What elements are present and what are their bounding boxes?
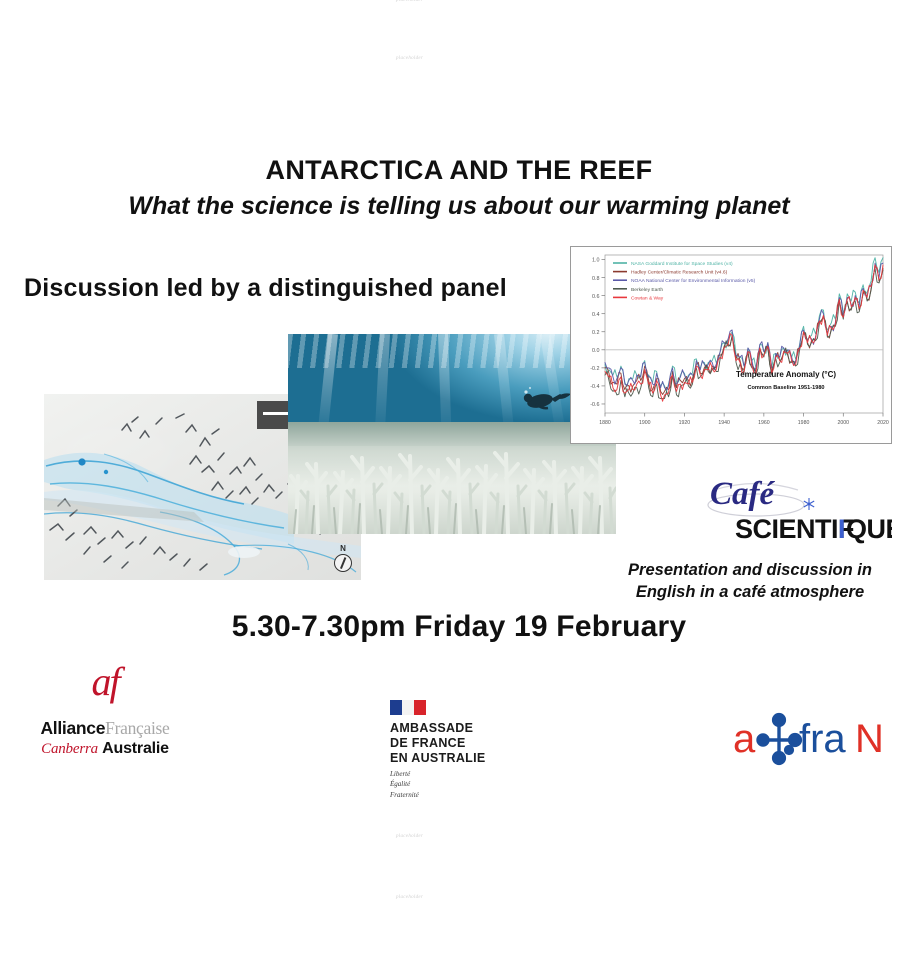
afran-molecule-icon	[758, 715, 800, 764]
svg-text:NASA Goddard Institute for Spa: NASA Goddard Institute for Space Studies…	[631, 261, 733, 267]
compass-rose-icon: N	[332, 545, 354, 575]
scientifique-que: QUE	[846, 514, 892, 544]
svg-text:Cowtan & Way: Cowtan & Way	[631, 295, 664, 301]
staghorn-coral	[288, 406, 616, 534]
embassy-line2: DE FRANCE	[390, 736, 520, 751]
photo-bleached-coral-reef	[288, 334, 616, 534]
logo-ambassade-de-france: AMBASSADE DE FRANCE EN AUSTRALIE Liberté…	[390, 700, 520, 792]
page-subtitle: What the science is telling us about our…	[0, 192, 918, 221]
ghost-text-top-1: placeholder	[396, 0, 423, 3]
svg-text:Common Baseline 1951-1980: Common Baseline 1951-1980	[747, 385, 824, 391]
motto-egalite: Égalité	[390, 779, 520, 789]
afran-a: a	[733, 717, 756, 761]
svg-text:0.6: 0.6	[592, 294, 600, 300]
event-note-line1: Presentation and discussion in	[600, 559, 900, 581]
embassy-name: AMBASSADE DE FRANCE EN AUSTRALIE	[390, 721, 520, 765]
svg-text:2000: 2000	[838, 420, 850, 426]
event-datetime: 5.30-7.30pm Friday 19 February	[0, 610, 918, 644]
motto-fraternite: Fraternité	[390, 790, 520, 800]
svg-text:0.0: 0.0	[592, 348, 600, 354]
afran-fra: fra	[799, 717, 846, 761]
event-note: Presentation and discussion in English i…	[600, 559, 900, 604]
af-line2: Canberra Australie	[20, 740, 190, 758]
logo-alliance-francaise: af AllianceFrançaise Canberra Australie	[20, 658, 190, 768]
page-title: ANTARCTICA AND THE REEF	[0, 155, 918, 186]
snowflake-icon	[804, 498, 814, 510]
af-francaise: Française	[105, 718, 169, 738]
svg-text:Hadley Center/Climatic Researc: Hadley Center/Climatic Research Unit (v4…	[631, 270, 728, 276]
svg-text:2020: 2020	[877, 420, 889, 426]
scientifique-i: I	[838, 514, 846, 544]
embassy-line3: EN AUSTRALIE	[390, 751, 520, 766]
af-monogram: af	[20, 662, 190, 702]
cafe-scientifique-logo: Café SCIENTIF I QUE	[692, 472, 892, 544]
svg-text:1940: 1940	[718, 420, 730, 426]
svg-text:-0.4: -0.4	[590, 384, 599, 390]
svg-text:1880: 1880	[599, 420, 611, 426]
afran-n: N	[855, 717, 883, 761]
svg-text:1920: 1920	[679, 420, 691, 426]
event-note-line2: English in a café atmosphere	[600, 581, 900, 603]
svg-text:0.8: 0.8	[592, 276, 600, 282]
svg-text:1960: 1960	[758, 420, 770, 426]
svg-text:-0.6: -0.6	[590, 402, 599, 408]
afran-svg: a fra N	[733, 710, 883, 766]
ghost-text-top-2: placeholder	[396, 56, 423, 61]
svg-text:NOAA National Center for Envir: NOAA National Center for Environmental I…	[631, 278, 756, 284]
chart-svg: -0.6-0.4-0.20.00.20.40.60.81.01880190019…	[571, 247, 891, 443]
svg-text:-0.2: -0.2	[590, 366, 599, 372]
af-canberra: Canberra	[41, 741, 98, 757]
svg-text:0.2: 0.2	[592, 330, 600, 336]
scientifique-wordmark: SCIENTIF	[735, 514, 854, 544]
af-line1: AllianceFrançaise	[20, 718, 190, 739]
ghost-text-bottom-1: placeholder	[396, 834, 423, 839]
svg-text:Temperature Anomaly (°C): Temperature Anomaly (°C)	[736, 370, 836, 379]
temperature-anomaly-chart: -0.6-0.4-0.20.00.20.40.60.81.01880190019…	[570, 246, 892, 444]
french-flag-icon	[390, 700, 426, 715]
panel-line: Discussion led by a distinguished panel	[24, 274, 507, 303]
motto-liberte: Liberté	[390, 769, 520, 779]
svg-text:1980: 1980	[798, 420, 810, 426]
svg-text:Berkeley Earth: Berkeley Earth	[631, 287, 663, 293]
french-motto: Liberté Égalité Fraternité	[390, 769, 520, 799]
poster-canvas: placeholder placeholder placeholder plac…	[0, 0, 918, 959]
cafe-scientifique-svg: Café SCIENTIF I QUE	[692, 472, 892, 544]
svg-text:1900: 1900	[639, 420, 651, 426]
af-alliance: Alliance	[40, 718, 105, 738]
af-australie: Australie	[102, 740, 169, 757]
cafe-wordmark: Café	[710, 476, 776, 512]
svg-text:1.0: 1.0	[592, 258, 600, 264]
embassy-line1: AMBASSADE	[390, 721, 520, 736]
ghost-text-bottom-2: placeholder	[396, 895, 423, 900]
logo-afran: a fra N	[733, 710, 883, 766]
svg-text:0.4: 0.4	[592, 312, 600, 318]
